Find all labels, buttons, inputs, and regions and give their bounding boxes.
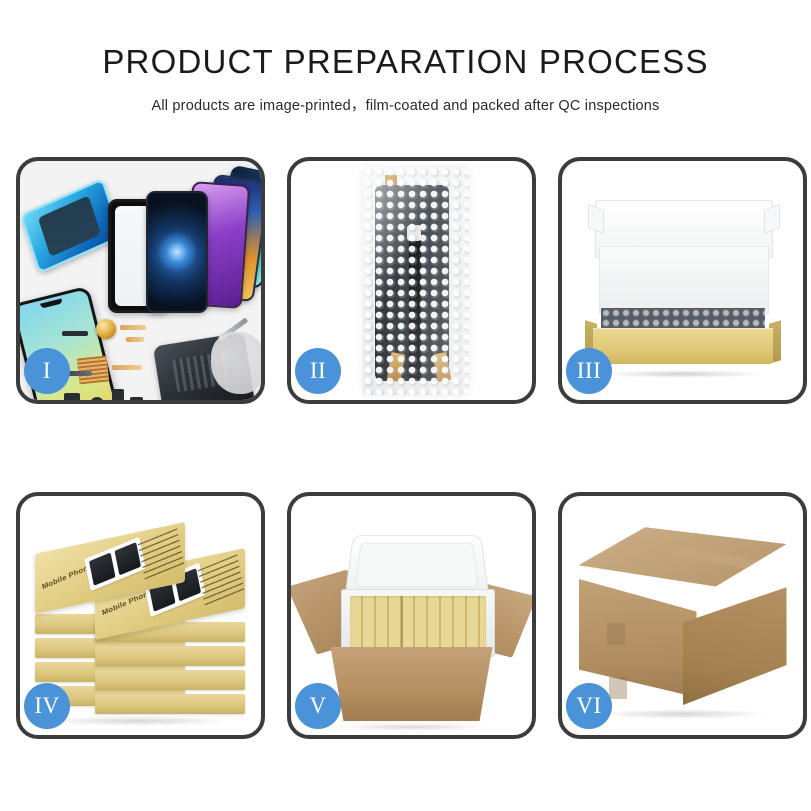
step-panel-2[interactable]: II [287, 157, 536, 404]
bubble-wrapped-screen-image [363, 167, 469, 395]
gold-boxes-inside-graphic [350, 596, 486, 648]
box-front-graphic [593, 328, 773, 364]
small-part-graphic [130, 397, 143, 400]
step-panel-1[interactable]: I [16, 157, 265, 404]
step-badge-2: II [295, 348, 341, 394]
carton-front-graphic [331, 647, 493, 721]
step-badge-3: III [566, 348, 612, 394]
step-badge-5: V [295, 683, 341, 729]
styrofoam-box-graphic [341, 589, 495, 657]
flex-cable-graphic [112, 365, 142, 370]
box-edge-graphic [95, 670, 245, 690]
copper-grid-graphic [77, 356, 110, 385]
small-part-graphic [62, 331, 88, 336]
box-edge-graphic [95, 694, 245, 714]
step-badge-4: IV [24, 683, 70, 729]
stacked-boxes-image: Mobile Phone Spare Parts Mobile Phone Sp… [33, 520, 249, 720]
open-gold-box-image [585, 196, 781, 374]
plastic-sheen [363, 167, 469, 395]
flex-cable-graphic [120, 325, 146, 330]
box-spec-text-lines [197, 555, 244, 607]
step-panel-6[interactable]: VI [558, 492, 807, 739]
carton-left-face [579, 571, 697, 697]
foam-liner-graphic [599, 246, 769, 314]
stack-shadow [43, 716, 233, 726]
small-part-graphic [112, 389, 124, 400]
carton-right-face [683, 587, 787, 705]
carton-patch-graphic [609, 677, 627, 699]
box-edge-graphic [95, 646, 245, 666]
carton-shadow [335, 723, 489, 731]
step-panel-3[interactable]: III [558, 157, 807, 404]
step-panel-5[interactable]: V [287, 492, 536, 739]
process-step-grid: I II [16, 157, 805, 739]
hand-graphic [211, 332, 261, 394]
styrofoam-lid-graphic [344, 535, 489, 596]
flex-cable-graphic [126, 337, 144, 342]
box-spec-text-lines [137, 529, 184, 581]
box-shadow [601, 370, 765, 378]
page-title: PRODUCT PREPARATION PROCESS [0, 44, 811, 80]
box-product-photo [84, 537, 145, 591]
page-subtitle: All products are image-printed，film-coat… [0, 94, 811, 115]
step-panel-4[interactable]: Mobile Phone Spare Parts Mobile Phone Sp… [16, 492, 265, 739]
step-badge-1: I [24, 348, 70, 394]
small-part-graphic [64, 393, 80, 400]
screen-protector-graphic [20, 178, 122, 274]
carton-shadow [597, 709, 769, 719]
step-badge-6: VI [566, 683, 612, 729]
carton-patch-graphic [607, 623, 625, 645]
page-header: PRODUCT PREPARATION PROCESS All products… [0, 0, 811, 115]
gold-component-graphic [96, 319, 116, 339]
phone-dark-graphic [146, 191, 208, 313]
sealed-carton-image [579, 527, 787, 713]
